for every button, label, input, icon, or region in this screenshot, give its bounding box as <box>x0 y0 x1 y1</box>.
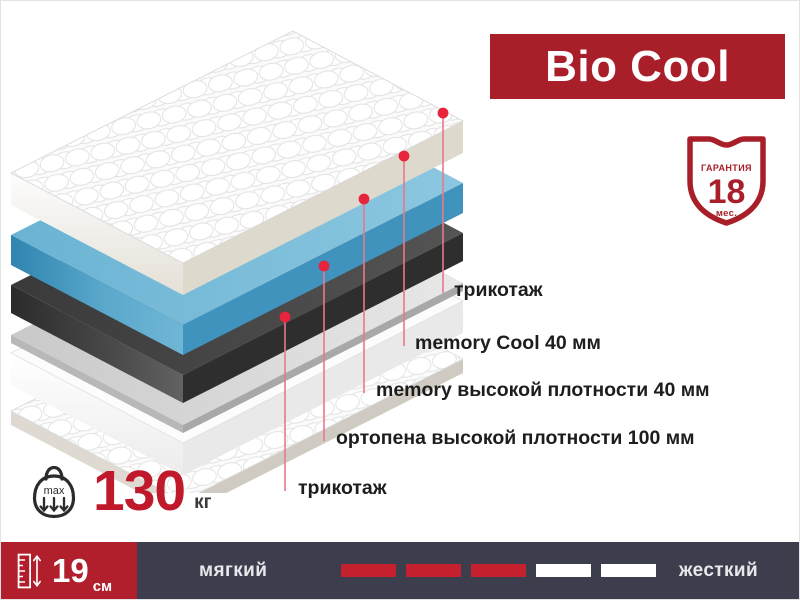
firmness-scale-block: мягкий жесткий <box>137 542 800 599</box>
height-value: 19 <box>52 554 89 587</box>
layer-label-ortho-foam: ортопена высокой плотности 100 мм <box>336 429 695 449</box>
warranty-top-text: ГАРАНТИЯ <box>701 163 752 173</box>
brand-banner: Bio Cool <box>490 34 785 99</box>
layer-label-knit-bottom: трикотаж <box>298 479 387 499</box>
layer-label-memory-foam: memory высокой плотности 40 мм <box>376 381 710 401</box>
max-weight-unit: кг <box>194 492 211 514</box>
kettlebell-icon: max <box>29 464 79 520</box>
firmness-segment-5 <box>601 564 656 577</box>
firmness-hard-label: жесткий <box>679 560 758 582</box>
product-infographic: трикотаж memory Cool 40 мм memory высоко… <box>0 0 800 600</box>
firmness-segment-3 <box>471 564 526 577</box>
firmness-scale <box>341 564 656 577</box>
firmness-segment-2 <box>406 564 461 577</box>
warranty-unit: мес. <box>716 208 737 219</box>
ruler-icon <box>17 553 43 589</box>
max-weight-value: 130 <box>93 463 185 520</box>
layer-label-memory-cool: memory Cool 40 мм <box>415 334 601 354</box>
warranty-shield-icon: ГАРАНТИЯ 18 мес. <box>684 129 769 227</box>
firmness-soft-label: мягкий <box>199 560 267 582</box>
bottom-info-bar: 19 см мягкий жесткий <box>1 542 800 599</box>
firmness-segment-4 <box>536 564 591 577</box>
firmness-segment-1 <box>341 564 396 577</box>
max-weight-block: max 130 кг <box>29 463 212 520</box>
kettlebell-max-text: max <box>44 485 65 497</box>
layer-label-knit-top: трикотаж <box>454 281 543 301</box>
height-unit: см <box>93 578 112 595</box>
brand-title: Bio Cool <box>545 45 730 89</box>
warranty-number: 18 <box>708 173 746 211</box>
height-block: 19 см <box>1 542 137 599</box>
mattress-layer-diagram <box>0 23 493 493</box>
